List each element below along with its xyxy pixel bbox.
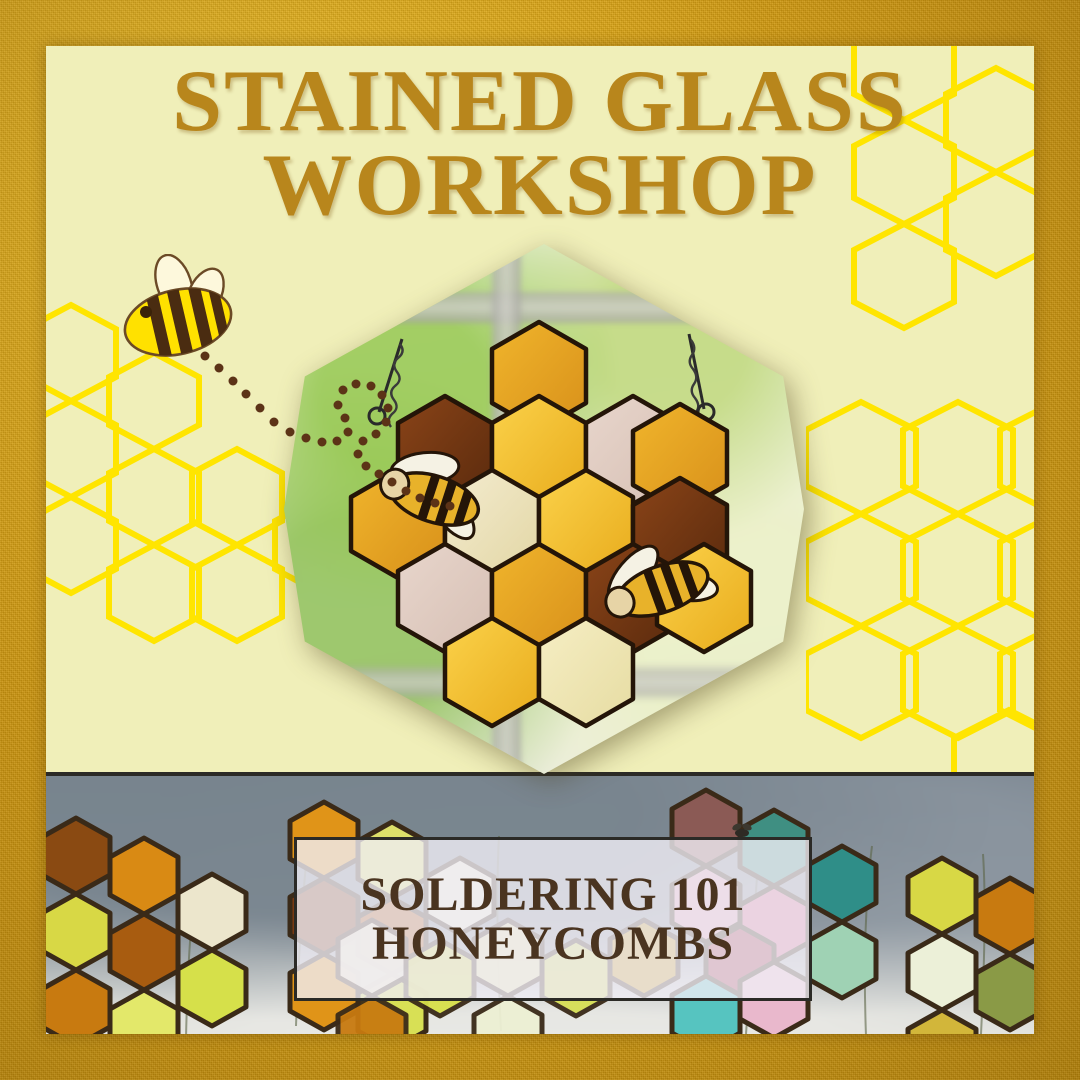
poster-title: STAINED GLASS WORKSHOP bbox=[46, 60, 1034, 229]
subtitle-box: SOLDERING 101 HONEYCOMBS bbox=[294, 837, 812, 1001]
suncatcher-cluster-left bbox=[46, 814, 296, 1034]
title-line-1: STAINED GLASS bbox=[46, 60, 1034, 144]
subtitle-line-2: HONEYCOMBS bbox=[372, 919, 734, 968]
honeycomb-pattern-right bbox=[806, 398, 1034, 798]
subtitle-line-1: SOLDERING 101 bbox=[360, 870, 745, 919]
title-line-2: WORKSHOP bbox=[46, 144, 1034, 228]
poster-card: STAINED GLASS WORKSHOP bbox=[46, 46, 1034, 1034]
bee-flight-trail-icon bbox=[196, 346, 456, 546]
suncatcher-cluster-right bbox=[902, 854, 1034, 1034]
bee-icon bbox=[104, 254, 264, 374]
poster-canvas: STAINED GLASS WORKSHOP bbox=[0, 0, 1080, 1080]
